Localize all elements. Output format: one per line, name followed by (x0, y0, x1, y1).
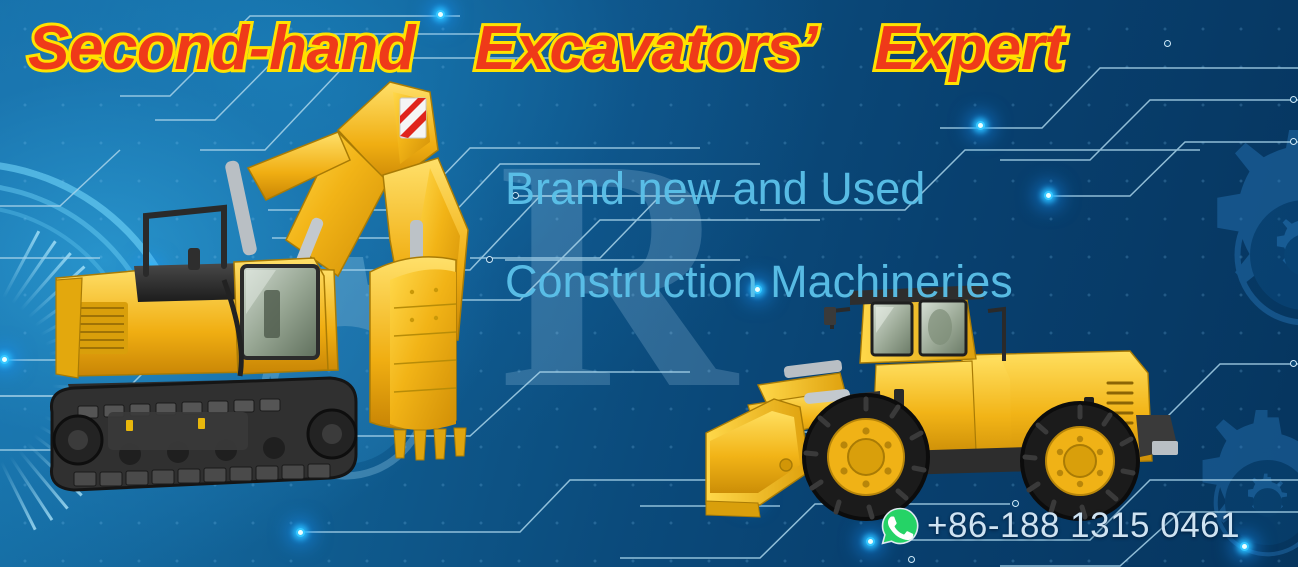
page-title: Second-hand Excavators’ Expert (28, 12, 1064, 86)
headline-part-1: Second-hand (28, 14, 415, 83)
circuit-node (1290, 360, 1297, 367)
subtitle-line-2: Construction Machineries (505, 235, 1013, 328)
subtitle-line-1: Brand new and Used (505, 142, 1013, 235)
circuit-node-glow (976, 121, 985, 130)
excavator-image (38, 40, 508, 520)
circuit-node-glow (866, 537, 875, 546)
contact-phone[interactable]: +86-188 1315 0461 (880, 506, 1240, 546)
circuit-node (908, 556, 915, 563)
circuit-node-glow (1240, 542, 1249, 551)
circuit-node-glow (1044, 191, 1053, 200)
circuit-node (1164, 40, 1171, 47)
headline-part-3: Expert (874, 14, 1064, 83)
circuit-node (1290, 138, 1297, 145)
phone-number[interactable]: +86-188 1315 0461 (927, 506, 1240, 546)
headline-part-2: Excavators’ (475, 14, 815, 83)
circuit-node (1290, 96, 1297, 103)
promo-banner: R (0, 0, 1298, 567)
circuit-node-glow (0, 355, 9, 364)
circuit-node-glow (296, 528, 305, 537)
whatsapp-icon[interactable] (880, 506, 920, 546)
subtitle-block: Brand new and Used Construction Machiner… (505, 142, 1013, 328)
